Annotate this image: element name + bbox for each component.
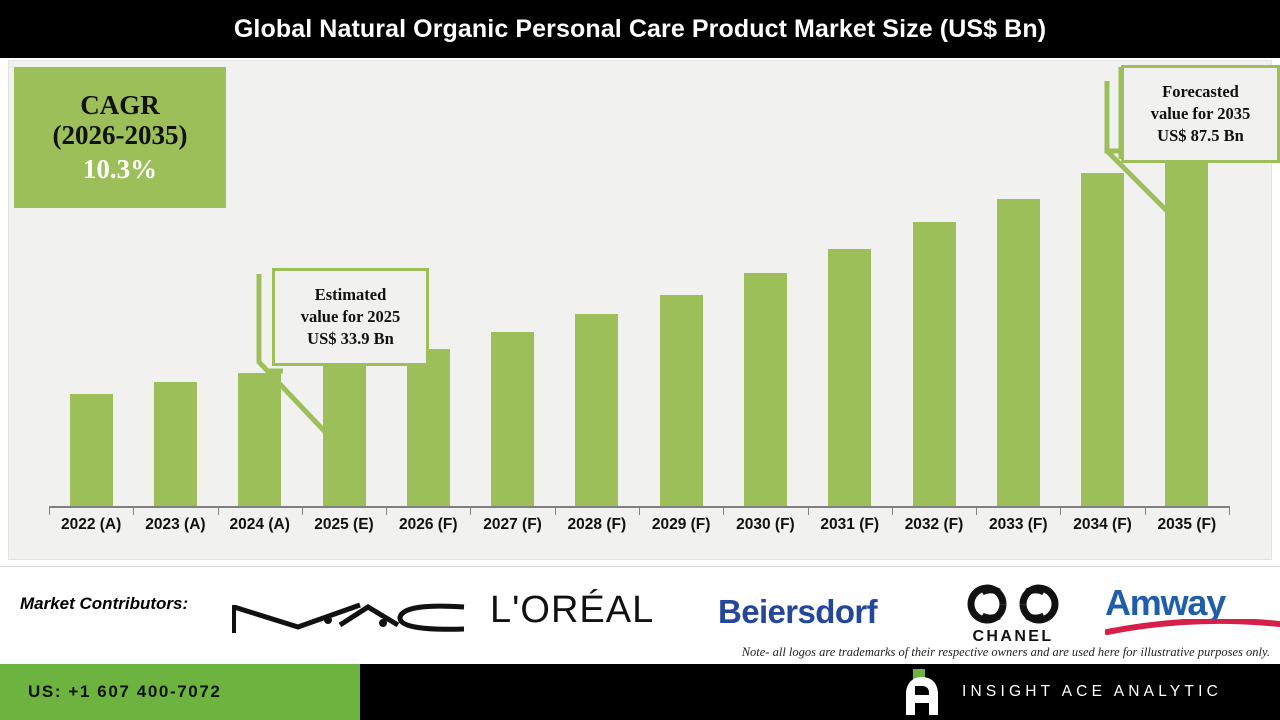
bar-2023-a-[interactable]	[154, 382, 197, 506]
chanel-cc-icon	[965, 583, 1061, 625]
footer-bar: US: +1 607 400-7072 INSIGHT ACE ANALYTIC	[0, 664, 1280, 720]
forecasted-callout-line2: value for 2035	[1151, 103, 1251, 125]
estimated-callout-line3: US$ 33.9 Bn	[307, 328, 394, 350]
insightace-a-icon	[900, 669, 946, 715]
amway-logo: Amway	[1105, 585, 1280, 640]
forecasted-value-callout: Forecasted value for 2035 US$ 87.5 Bn	[1121, 65, 1280, 163]
chanel-logo: CHANEL	[965, 583, 1061, 646]
x-axis-tick	[470, 506, 471, 515]
x-axis-label: 2029 (F)	[639, 516, 723, 534]
x-axis-label: 2035 (F)	[1145, 516, 1229, 534]
x-axis-tick	[1229, 506, 1230, 515]
footer-phone-number[interactable]: US: +1 607 400-7072	[28, 682, 221, 702]
chanel-wordmark: CHANEL	[965, 628, 1061, 646]
x-axis-tick	[1145, 506, 1146, 515]
bar-2033-f-[interactable]	[997, 199, 1040, 506]
x-axis-label: 2024 (A)	[218, 516, 302, 534]
x-axis-label: 2034 (F)	[1060, 516, 1144, 534]
brand-name: INSIGHT ACE ANALYTIC	[962, 683, 1222, 701]
amway-wordmark: Amway	[1105, 585, 1280, 621]
bar-2030-f-[interactable]	[744, 273, 787, 506]
chart-panel: 2022 (A)2023 (A)2024 (A)2025 (E)2026 (F)…	[8, 60, 1272, 560]
x-axis-tick	[1060, 506, 1061, 515]
x-axis-label: 2027 (F)	[470, 516, 554, 534]
logos-disclaimer-note: Note- all logos are trademarks of their …	[742, 645, 1270, 660]
estimated-value-callout: Estimated value for 2025 US$ 33.9 Bn	[272, 268, 429, 366]
page-title: Global Natural Organic Personal Care Pro…	[234, 15, 1046, 44]
cagr-period: (2026-2035)	[53, 120, 188, 151]
infographic-page: Global Natural Organic Personal Care Pro…	[0, 0, 1280, 720]
footer-phone-block: US: +1 607 400-7072	[0, 664, 360, 720]
market-contributors-strip: Market Contributors: L'ORÉAL Beiersdorf	[0, 566, 1280, 664]
cagr-title: CAGR	[80, 90, 160, 121]
cagr-box: CAGR (2026-2035) 10.3%	[14, 67, 226, 208]
x-axis-tick	[639, 506, 640, 515]
forecasted-callout-line1: Forecasted	[1162, 81, 1239, 103]
bar-2022-a-[interactable]	[70, 394, 113, 506]
x-axis-label: 2031 (F)	[808, 516, 892, 534]
x-axis-label: 2025 (E)	[302, 516, 386, 534]
x-axis-tick	[49, 506, 50, 515]
cagr-value: 10.3%	[83, 153, 157, 185]
mac-logo	[228, 601, 468, 640]
x-axis-tick	[386, 506, 387, 515]
amway-swoosh-icon	[1105, 619, 1280, 635]
x-axis-label: 2026 (F)	[386, 516, 470, 534]
x-axis-tick	[723, 506, 724, 515]
x-axis-label: 2033 (F)	[976, 516, 1060, 534]
x-axis-tick	[302, 506, 303, 515]
brand-block: INSIGHT ACE ANALYTIC	[900, 664, 1222, 720]
x-axis-tick	[133, 506, 134, 515]
x-axis-label: 2028 (F)	[555, 516, 639, 534]
x-axis-label: 2030 (F)	[723, 516, 807, 534]
estimated-callout-line2: value for 2025	[301, 306, 401, 328]
x-axis-label: 2032 (F)	[892, 516, 976, 534]
x-axis-label: 2022 (A)	[49, 516, 133, 534]
forecasted-callout-line3: US$ 87.5 Bn	[1157, 125, 1244, 147]
bar-2026-f-[interactable]	[407, 349, 450, 506]
beiersdorf-logo: Beiersdorf	[718, 593, 877, 631]
bar-2028-f-[interactable]	[575, 314, 618, 506]
x-axis-tick	[892, 506, 893, 515]
bar-2031-f-[interactable]	[828, 249, 871, 506]
x-axis-tick	[555, 506, 556, 515]
x-axis-tick	[218, 506, 219, 515]
x-axis-label: 2023 (A)	[133, 516, 217, 534]
loreal-logo: L'ORÉAL	[490, 589, 654, 632]
x-axis-tick	[976, 506, 977, 515]
x-axis-tick	[808, 506, 809, 515]
bar-2027-f-[interactable]	[491, 332, 534, 506]
estimated-callout-line1: Estimated	[315, 284, 387, 306]
market-contributors-label: Market Contributors:	[20, 594, 188, 614]
bar-2032-f-[interactable]	[913, 222, 956, 506]
title-bar: Global Natural Organic Personal Care Pro…	[0, 0, 1280, 58]
bar-2029-f-[interactable]	[660, 295, 703, 506]
